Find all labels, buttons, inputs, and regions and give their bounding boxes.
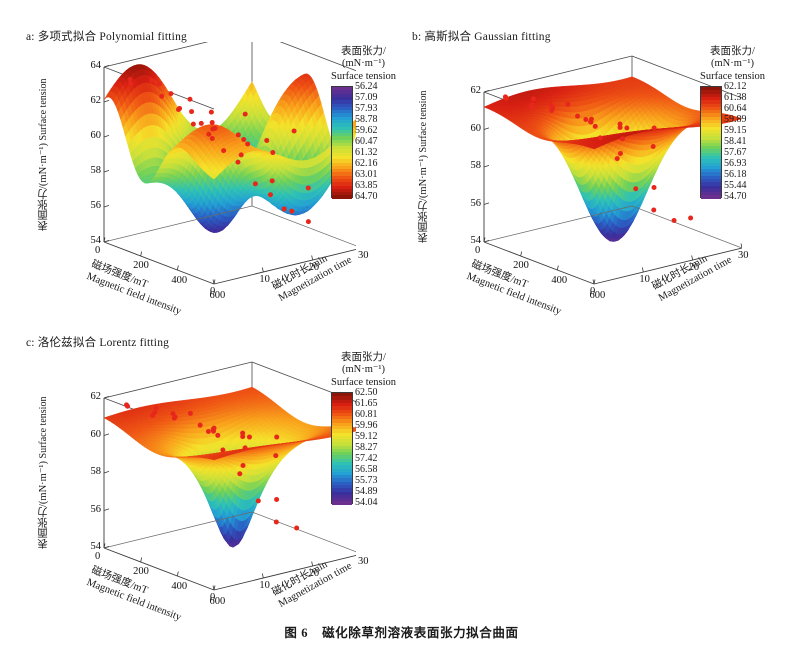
colorbar-legend-a: 表面张力/(mN·m⁻¹)Surface tension56.2457.0957… — [331, 46, 396, 198]
figure-number: 图 6 — [284, 626, 308, 640]
legend-body: 62.1261.3860.6459.8959.1558.4157.6756.93… — [700, 86, 765, 198]
scatter-point — [198, 423, 203, 428]
scatter-point — [241, 463, 246, 468]
scatter-point — [651, 144, 656, 149]
scatter-point — [274, 520, 279, 525]
scatter-point — [618, 122, 623, 127]
scatter-point — [624, 126, 629, 131]
y-tick-label: 0 — [210, 592, 215, 603]
scatter-point — [306, 185, 311, 190]
scatter-point — [157, 81, 162, 86]
z-tick-label: 58 — [83, 165, 101, 176]
figure-caption: 图 6磁化除草剂溶液表面张力拟合曲面 — [0, 622, 803, 641]
scatter-point — [565, 102, 570, 107]
scatter-point — [688, 216, 693, 221]
scatter-point — [210, 136, 215, 141]
z-tick-label: 56 — [463, 198, 481, 209]
x-tick-label: 200 — [133, 566, 149, 577]
scatter-point — [652, 126, 657, 131]
scatter-point — [292, 129, 297, 134]
z-tick-label: 60 — [463, 123, 481, 134]
colorbar-legend-b: 表面张力/(mN·m⁻¹)Surface tension62.1261.3860… — [700, 46, 765, 198]
scatter-point — [240, 431, 245, 436]
scatter-point — [212, 126, 217, 131]
scatter-point — [210, 120, 215, 125]
scatter-point — [243, 112, 248, 117]
scatter-point — [221, 148, 226, 153]
scatter-point — [289, 209, 294, 214]
scatter-point — [588, 119, 593, 124]
scatter-point — [583, 117, 588, 122]
scatter-point — [154, 405, 159, 410]
scatter-point — [531, 96, 536, 101]
x-tick-label: 0 — [95, 245, 100, 256]
scatter-point — [529, 105, 534, 110]
y-tick-label: 30 — [738, 250, 749, 261]
z-tick-label: 64 — [83, 60, 101, 71]
y-tick-label: 10 — [639, 274, 650, 285]
figure-page: a: 多项式拟合 Polynomial fitting 646260585654… — [0, 0, 803, 652]
legend-header: 表面张力/(mN·m⁻¹)Surface tension — [331, 46, 396, 83]
colorbar-segment — [332, 501, 352, 504]
colorbar[interactable] — [700, 86, 722, 198]
scatter-point — [177, 106, 182, 111]
scatter-point — [188, 411, 193, 416]
legend-tick-labels: 62.5061.6560.8159.9659.1258.2757.4256.58… — [355, 388, 378, 509]
y-tick-label: 30 — [358, 556, 369, 567]
y-tick-label: 10 — [259, 580, 270, 591]
legend-tick-labels: 62.1261.3860.6459.8959.1558.4157.6756.93… — [724, 82, 747, 203]
scatter-point — [209, 110, 214, 115]
x-tick-label: 400 — [171, 275, 187, 286]
scatter-point — [270, 178, 275, 183]
scatter-point — [274, 435, 279, 440]
colorbar[interactable] — [331, 86, 353, 198]
legend-header-line-1: 表面张力/ — [700, 46, 765, 58]
scatter-point — [159, 94, 164, 99]
colorbar-segment — [701, 195, 721, 198]
x-tick-label: 400 — [171, 581, 187, 592]
z-tick-label: 60 — [83, 429, 101, 440]
scatter-point — [206, 132, 211, 137]
scatter-point — [206, 429, 211, 434]
scatter-point — [268, 192, 273, 197]
legend-header-line-2: (mN·m⁻¹) — [700, 58, 765, 70]
scatter-point — [168, 91, 173, 96]
legend-tick-value: 54.70 — [724, 192, 747, 203]
scatter-point — [306, 219, 311, 224]
z-tick-label: 62 — [83, 95, 101, 106]
colorbar-legend-c: 表面张力/(mN·m⁻¹)Surface tension62.5061.6560… — [331, 352, 396, 504]
scatter-point — [239, 152, 244, 157]
z-axis-caption-en: Surface tension — [418, 91, 429, 155]
scatter-point — [575, 114, 580, 119]
x-tick-label: 0 — [95, 551, 100, 562]
scatter-point — [220, 447, 225, 452]
x-tick-label: 200 — [513, 260, 529, 271]
legend-tick-value: 54.04 — [355, 498, 378, 509]
scatter-point — [253, 181, 258, 186]
z-axis-caption-cn: 表面张力/(mN·m⁻¹) — [38, 143, 49, 231]
scatter-point — [237, 471, 242, 476]
scatter-point — [149, 78, 154, 83]
scatter-point — [593, 124, 598, 129]
z-tick-label: 62 — [83, 391, 101, 402]
z-tick-label: 58 — [83, 466, 101, 477]
scatter-point — [294, 526, 299, 531]
scatter-point — [618, 151, 623, 156]
scatter-point — [211, 427, 216, 432]
z-axis-caption-en: Surface tension — [38, 397, 49, 461]
scatter-point — [199, 121, 204, 126]
scatter-point — [150, 413, 155, 418]
legend-body: 56.2457.0957.9358.7859.6260.4761.3262.16… — [331, 86, 396, 198]
scatter-point — [189, 109, 194, 114]
y-tick-label: 0 — [590, 286, 595, 297]
z-tick-label: 62 — [463, 85, 481, 96]
z-tick-label: 56 — [83, 504, 101, 515]
z-tick-label: 58 — [463, 160, 481, 171]
scatter-point — [247, 435, 252, 440]
z-axis-caption-en: Surface tension — [38, 78, 49, 142]
x-tick-label: 0 — [475, 245, 480, 256]
legend-header-line-2: (mN·m⁻¹) — [331, 364, 396, 376]
z-tick-label: 56 — [83, 200, 101, 211]
colorbar[interactable] — [331, 392, 353, 504]
scatter-point — [256, 498, 261, 503]
z-tick-label: 60 — [83, 130, 101, 141]
x-tick-label: 200 — [133, 260, 149, 271]
scatter-point — [236, 132, 241, 137]
z-axis-caption: 表面张力/(mN·m⁻¹) Surface tension — [38, 392, 50, 554]
scatter-point — [187, 97, 192, 102]
scatter-point — [245, 141, 250, 146]
scatter-point — [273, 453, 278, 458]
scatter-point — [215, 433, 220, 438]
scatter-point — [652, 185, 657, 190]
legend-header: 表面张力/(mN·m⁻¹)Surface tension — [700, 46, 765, 83]
scatter-point — [235, 160, 240, 165]
figure-caption-text: 磁化除草剂溶液表面张力拟合曲面 — [322, 626, 519, 640]
legend-header-line-2: (mN·m⁻¹) — [331, 58, 396, 70]
x-tick-label: 400 — [551, 275, 567, 286]
scatter-point — [125, 404, 130, 409]
scatter-point — [243, 445, 248, 450]
scatter-point — [633, 186, 638, 191]
scatter-point — [504, 96, 509, 101]
scatter-point — [672, 218, 677, 223]
y-tick-label: 30 — [358, 250, 369, 261]
scatter-point — [615, 156, 620, 161]
scatter-point — [282, 206, 287, 211]
scatter-point — [620, 136, 625, 141]
y-tick-label: 0 — [210, 286, 215, 297]
scatter-point — [549, 108, 554, 113]
z-axis-caption-cn: 表面张力/(mN·m⁻¹) — [38, 461, 49, 549]
colorbar-segment — [332, 195, 352, 198]
z-axis-caption-cn: 表面张力/(mN·m⁻¹) — [418, 155, 429, 243]
legend-header: 表面张力/(mN·m⁻¹)Surface tension — [331, 352, 396, 389]
scatter-point — [598, 135, 603, 140]
scatter-point — [651, 207, 656, 212]
scatter-point — [270, 150, 275, 155]
legend-header-line-1: 表面张力/ — [331, 46, 396, 58]
legend-tick-labels: 56.2457.0957.9358.7859.6260.4761.3262.16… — [355, 82, 378, 203]
scatter-point — [128, 77, 133, 82]
scatter-point — [241, 137, 246, 142]
scatter-point — [172, 416, 177, 421]
legend-body: 62.5061.6560.8159.9659.1258.2757.4256.58… — [331, 392, 396, 504]
scatter-point — [274, 497, 279, 502]
legend-header-line-1: 表面张力/ — [331, 352, 396, 364]
legend-tick-value: 64.70 — [355, 192, 378, 203]
scatter-point — [191, 122, 196, 127]
scatter-point — [264, 138, 269, 143]
z-axis-caption: 表面张力/(mN·m⁻¹) Surface tension — [418, 86, 430, 248]
y-tick-label: 10 — [259, 274, 270, 285]
z-axis-caption: 表面张力/(mN·m⁻¹) Surface tension — [38, 61, 50, 248]
